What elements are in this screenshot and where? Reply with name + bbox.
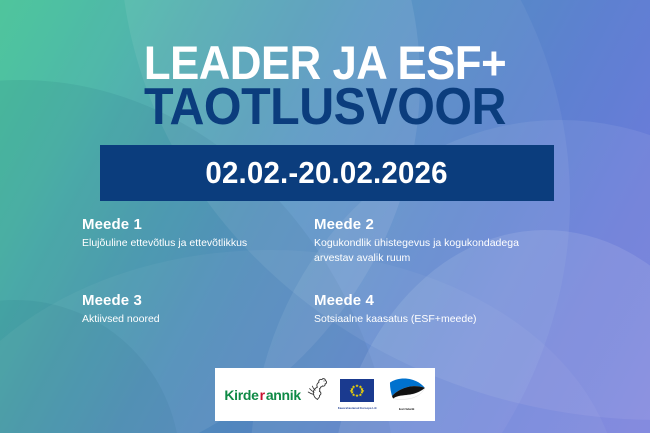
measure-title: Meede 2 — [314, 216, 582, 233]
measures-grid: Meede 1 Elujõuline ettevõtlus ja ettevõt… — [82, 216, 582, 328]
measure-block-3: Meede 3 Aktiivsed noored — [82, 292, 314, 327]
measure-block-4: Meede 4 Sotsiaalne kaasatus (ESF+meede) — [314, 292, 582, 327]
eu-cofunded-logo: Kaasrahastanud Euroopa Liit — [338, 379, 377, 411]
eu-flag-icon — [340, 379, 374, 407]
measure-description: Kogukondlik ühistegevus ja kogukondadega… — [314, 236, 554, 266]
measure-block-1: Meede 1 Elujõuline ettevõtlus ja ettevõt… — [82, 216, 314, 266]
measure-title: Meede 3 — [82, 292, 314, 309]
estonia-logo: Eesti Vabariik — [388, 378, 426, 412]
measure-description: Sotsiaalne kaasatus (ESF+meede) — [314, 312, 554, 327]
estonia-flag-icon — [388, 378, 426, 408]
measure-description: Elujõuline ettevõtlus ja ettevõtlikkus — [82, 236, 314, 251]
kirderannik-text-part1: Kirde — [224, 388, 258, 402]
measure-description: Aktiivsed noored — [82, 312, 314, 327]
eu-caption-text: Kaasrahastanud Euroopa Liit — [338, 408, 377, 411]
measure-title: Meede 4 — [314, 292, 582, 309]
kirderannik-text-part2: r — [260, 388, 265, 402]
date-range-text: 02.02.-20.02.2026 — [206, 155, 448, 191]
estonia-caption-text: Eesti Vabariik — [399, 409, 415, 412]
measure-title: Meede 1 — [82, 216, 314, 233]
headline-line-secondary: TAOTLUSVOOR — [23, 83, 628, 133]
poster-headline: LEADER JA ESF+ TAOTLUSVOOR — [0, 40, 650, 133]
kirderannik-text-part3: annik — [266, 388, 301, 402]
poster-canvas: LEADER JA ESF+ TAOTLUSVOOR 02.02.-20.02.… — [0, 0, 650, 433]
date-banner: 02.02.-20.02.2026 — [100, 145, 554, 201]
logo-bar: Kirderannik — [215, 368, 435, 421]
measure-block-2: Meede 2 Kogukondlik ühistegevus ja koguk… — [314, 216, 582, 266]
bird-icon — [303, 378, 327, 405]
kirderannik-logo: Kirderannik — [224, 384, 327, 405]
